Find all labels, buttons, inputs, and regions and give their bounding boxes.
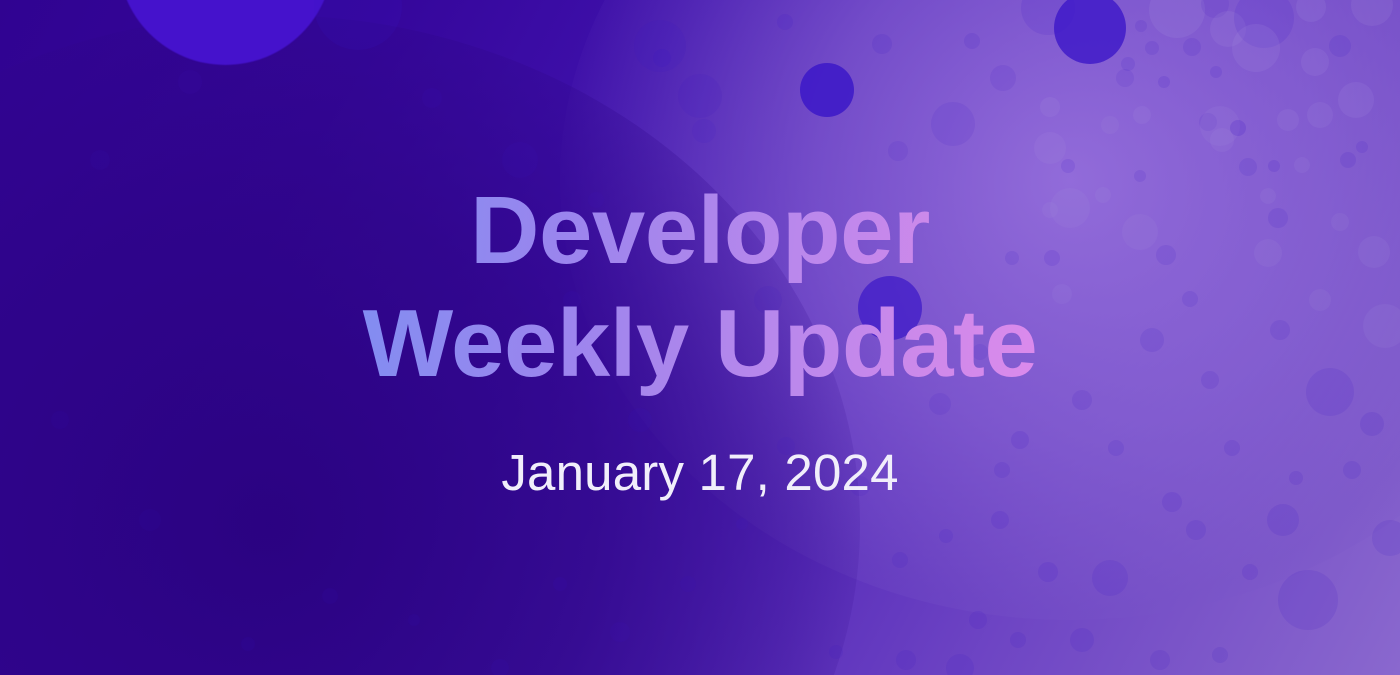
title-line-1: Developer (363, 174, 1038, 287)
slide-date: January 17, 2024 (501, 445, 898, 501)
slide-content: Developer Weekly Update January 17, 2024 (0, 0, 1400, 675)
page-title: Developer Weekly Update (353, 174, 1048, 401)
title-slide: Developer Weekly Update January 17, 2024 (0, 0, 1400, 675)
title-line-2: Weekly Update (363, 287, 1038, 400)
